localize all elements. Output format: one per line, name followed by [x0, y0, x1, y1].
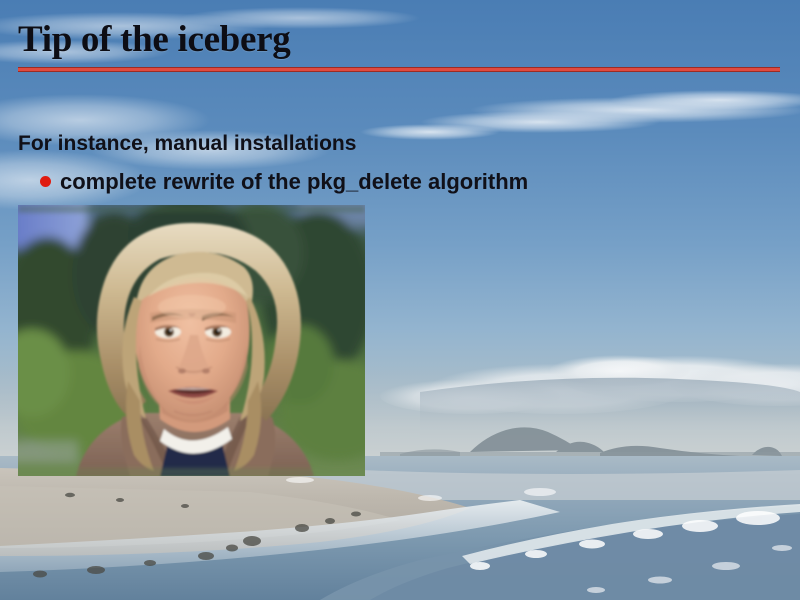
presentation-slide: Tip of the iceberg For instance, manual …	[0, 0, 800, 600]
bullet-item-label: complete rewrite of the pkg_delete algor…	[60, 168, 528, 195]
page-title: Tip of the iceberg	[18, 18, 782, 62]
body-lead-line: For instance, manual installations	[18, 131, 788, 157]
bullet-dot-icon	[40, 176, 51, 187]
macgyver-portrait-photo	[18, 205, 365, 476]
body-text-block: For instance, manual installations compl…	[18, 131, 788, 195]
title-block: Tip of the iceberg	[18, 18, 782, 62]
list-item: complete rewrite of the pkg_delete algor…	[40, 168, 788, 195]
title-underline-rule	[18, 67, 780, 72]
